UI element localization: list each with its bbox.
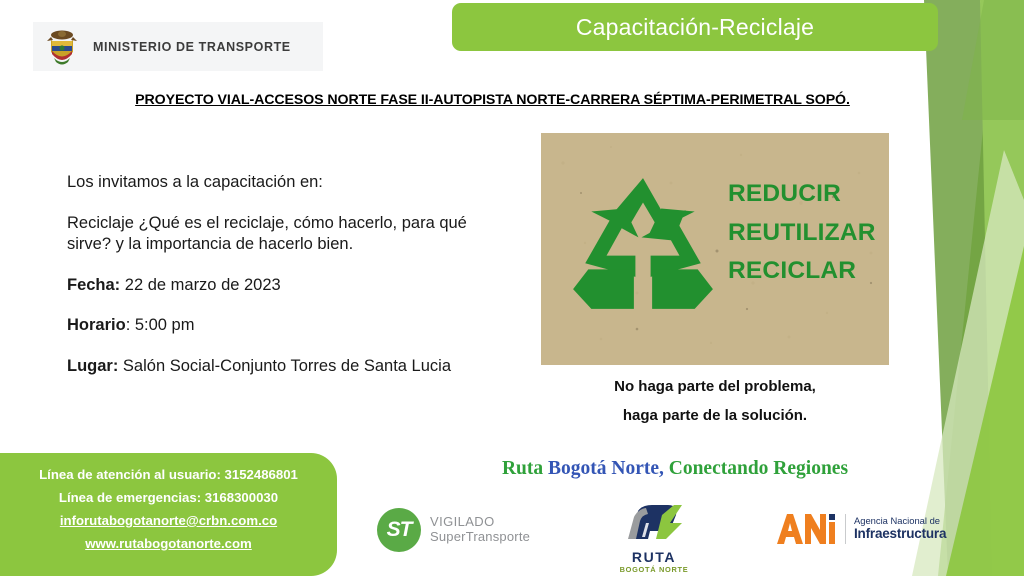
slogan-part-1: Ruta bbox=[502, 458, 548, 479]
recycling-triangle-icon bbox=[567, 169, 719, 321]
word-reutilizar: REUTILIZAR bbox=[728, 214, 878, 253]
logo-supertransporte: ST VIGILADO SuperTransporte bbox=[377, 508, 530, 552]
invitation-time: Horario: 5:00 pm bbox=[67, 315, 499, 336]
place-value: Salón Social-Conjunto Torres de Santa Lu… bbox=[118, 357, 451, 375]
banner-title: Capacitación-Reciclaje bbox=[576, 14, 814, 41]
colombia-coat-of-arms-icon bbox=[45, 27, 79, 67]
contact-attention-line: Línea de atención al usuario: 3152486801 bbox=[0, 464, 337, 487]
contact-emergency-line: Línea de emergencias: 3168300030 bbox=[0, 487, 337, 510]
st-mark-text: ST bbox=[377, 508, 421, 552]
contact-website[interactable]: www.rutabogotanorte.com bbox=[0, 533, 337, 556]
invitation-date: Fecha: 22 de marzo de 2023 bbox=[67, 275, 499, 296]
st-wordmark: VIGILADO SuperTransporte bbox=[430, 515, 530, 545]
invitation-intro: Los invitamos a la capacitación en: bbox=[67, 172, 499, 193]
contact-box: Línea de atención al usuario: 3152486801… bbox=[0, 453, 337, 576]
contact-email[interactable]: inforutabogotanorte@crbn.com.co bbox=[0, 510, 337, 533]
ani-logo-icon bbox=[775, 512, 837, 546]
invitation-place: Lugar: Salón Social-Conjunto Torres de S… bbox=[67, 356, 499, 377]
caption-line-1: No haga parte del problema, bbox=[541, 372, 889, 401]
ruta-slogan: Ruta Bogotá Norte, Conectando Regiones bbox=[440, 458, 910, 480]
time-value: : 5:00 pm bbox=[126, 316, 195, 334]
ruta-subtitle: BOGOTÁ NORTE bbox=[612, 565, 696, 574]
recycling-slogan-words: REDUCIR REUTILIZAR RECICLAR bbox=[728, 175, 878, 291]
slide-canvas: MINISTERIO DE TRANSPORTE Capacitación-Re… bbox=[0, 0, 1024, 576]
ministry-logo-label: MINISTERIO DE TRANSPORTE bbox=[93, 40, 291, 54]
logo-ani: Agencia Nacional de Infraestructura bbox=[775, 512, 946, 546]
invitation-topic: Reciclaje ¿Qué es el reciclaje, cómo hac… bbox=[67, 213, 499, 255]
word-reducir: REDUCIR bbox=[728, 175, 878, 214]
st-line-1: VIGILADO bbox=[430, 515, 530, 530]
ruta-name: RUTA bbox=[612, 549, 696, 565]
invitation-text-block: Los invitamos a la capacitación en: Reci… bbox=[67, 172, 499, 397]
ministry-logo-box: MINISTERIO DE TRANSPORTE bbox=[33, 22, 323, 71]
place-label: Lugar: bbox=[67, 357, 118, 375]
date-value: 22 de marzo de 2023 bbox=[120, 276, 281, 294]
time-label: Horario bbox=[67, 316, 126, 334]
date-label: Fecha: bbox=[67, 276, 120, 294]
recycling-poster-image: REDUCIR REUTILIZAR RECICLAR bbox=[541, 133, 889, 365]
ani-divider bbox=[845, 514, 846, 544]
ruta-road-r-icon bbox=[612, 503, 696, 543]
slogan-part-3: Conectando Regiones bbox=[664, 458, 848, 479]
banner-capacitacion: Capacitación-Reciclaje bbox=[452, 3, 938, 51]
word-reciclar: RECICLAR bbox=[728, 252, 878, 291]
ani-wordmark: Agencia Nacional de Infraestructura bbox=[854, 516, 946, 541]
caption-line-2: haga parte de la solución. bbox=[541, 401, 889, 430]
slogan-part-2: Bogotá Norte, bbox=[548, 458, 664, 479]
decorative-green-shapes bbox=[884, 0, 1024, 576]
project-title: PROYECTO VIAL-ACCESOS NORTE FASE II-AUTO… bbox=[0, 92, 985, 108]
st-circle-icon: ST bbox=[377, 508, 421, 552]
picture-caption: No haga parte del problema, haga parte d… bbox=[541, 372, 889, 431]
st-line-2: SuperTransporte bbox=[430, 530, 530, 545]
logo-ruta-bogota-norte: RUTA BOGOTÁ NORTE bbox=[612, 503, 696, 574]
ani-line-2: Infraestructura bbox=[854, 527, 946, 542]
